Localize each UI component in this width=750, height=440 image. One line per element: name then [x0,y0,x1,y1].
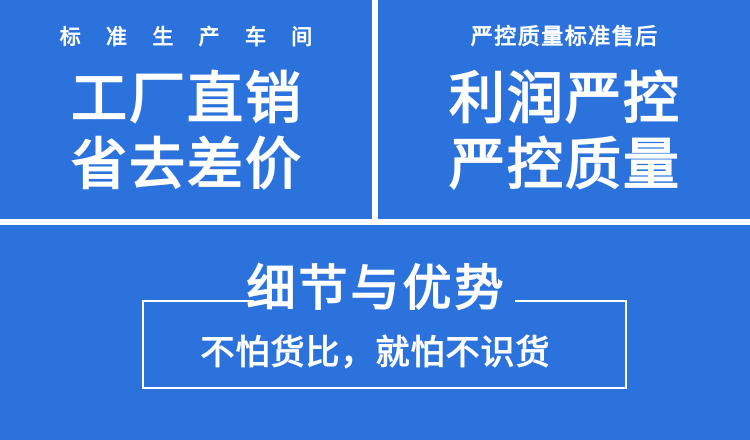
panel-factory-direct: 标 准 生 产 车 间 工厂直销 省去差价 [0,0,372,219]
panel-right-eyebrow: 严控质量标准售后 [378,27,750,49]
panel-right-headline-line1: 利润严控 [378,72,750,128]
panel-right-headline-line2: 严控质量 [378,138,750,194]
bottom-panel-subtitle: 不怕货比，就怕不识货 [0,336,750,370]
panel-left-headline-line2: 省去差价 [0,138,372,194]
panel-left-eyebrow: 标 准 生 产 车 间 [0,27,372,48]
panel-left-headline-line1: 工厂直销 [0,72,372,128]
promo-banner: 标 准 生 产 车 间 工厂直销 省去差价 严控质量标准售后 利润严控 严控质量… [0,0,750,440]
panel-quality-control: 严控质量标准售后 利润严控 严控质量 [378,0,750,219]
bottom-panel-title: 细节与优势 [0,264,750,313]
